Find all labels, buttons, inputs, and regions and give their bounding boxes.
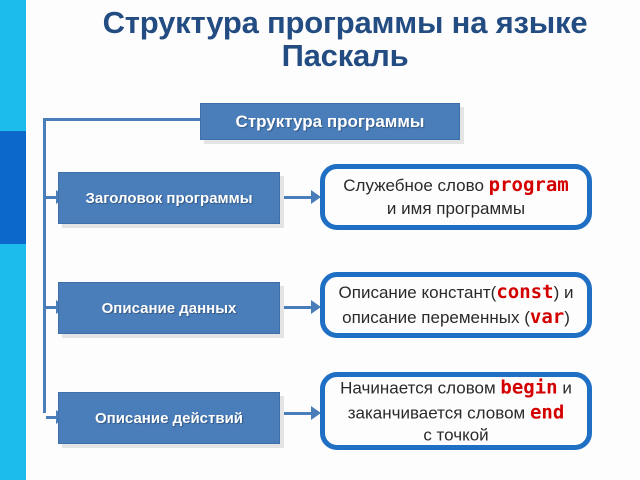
- node-program-header-label: Заголовок программы: [85, 190, 252, 207]
- node-actions-description[interactable]: Описание действий: [58, 392, 280, 444]
- stripe-segment-middle: [0, 131, 26, 244]
- callout-3-line2-before: заканчивается словом: [348, 403, 530, 422]
- callout-3-line1-before: Начинается словом: [340, 378, 500, 397]
- callout-actions-description: Начинается словом begin и заканчивается …: [320, 372, 592, 450]
- node-program-structure[interactable]: Структура программы: [200, 103, 460, 140]
- callout-2-keyword-var: var: [530, 306, 564, 328]
- callout-1-line1-before: Служебное слово: [343, 176, 488, 195]
- callout-2-line1-after: ) и: [554, 283, 574, 302]
- callout-2-keyword-const: const: [496, 281, 553, 303]
- callout-actions-description-text: Начинается словом begin и заканчивается …: [291, 375, 621, 446]
- callout-3-line1-after: и: [558, 378, 572, 397]
- left-accent-stripe: [0, 0, 26, 480]
- stripe-segment-bottom: [0, 244, 26, 480]
- node-data-description[interactable]: Описание данных: [58, 282, 280, 334]
- callout-2-line2-after: ): [564, 308, 570, 327]
- connector-trunk-vertical: [43, 118, 46, 413]
- callout-2-line1-before: Описание констант(: [339, 283, 497, 302]
- callout-2-line2-before: описание переменных (: [342, 308, 530, 327]
- callout-program-header-text: Служебное слово program и имя программы: [291, 173, 621, 221]
- callout-data-description-text: Описание констант(const) и описание пере…: [291, 280, 621, 330]
- callout-3-keyword-begin: begin: [500, 376, 557, 398]
- callout-1-keyword-program: program: [489, 174, 569, 196]
- callout-1-line2-before: и имя программы: [387, 199, 525, 218]
- node-actions-description-label: Описание действий: [95, 410, 243, 427]
- node-program-structure-label: Структура программы: [236, 112, 425, 132]
- callout-3-line3-before: с точкой: [423, 426, 488, 445]
- slide-title: Структура программы на языке Паскаль: [52, 6, 638, 72]
- stripe-segment-top: [0, 0, 26, 131]
- callout-3-keyword-end: end: [530, 401, 564, 423]
- node-program-header[interactable]: Заголовок программы: [58, 172, 280, 224]
- slide-canvas: Структура программы на языке Паскаль Стр…: [0, 0, 640, 480]
- callout-program-header: Служебное слово program и имя программы: [320, 164, 592, 230]
- node-data-description-label: Описание данных: [102, 300, 237, 317]
- connector-root-horizontal: [43, 118, 203, 121]
- callout-data-description: Описание констант(const) и описание пере…: [320, 272, 592, 338]
